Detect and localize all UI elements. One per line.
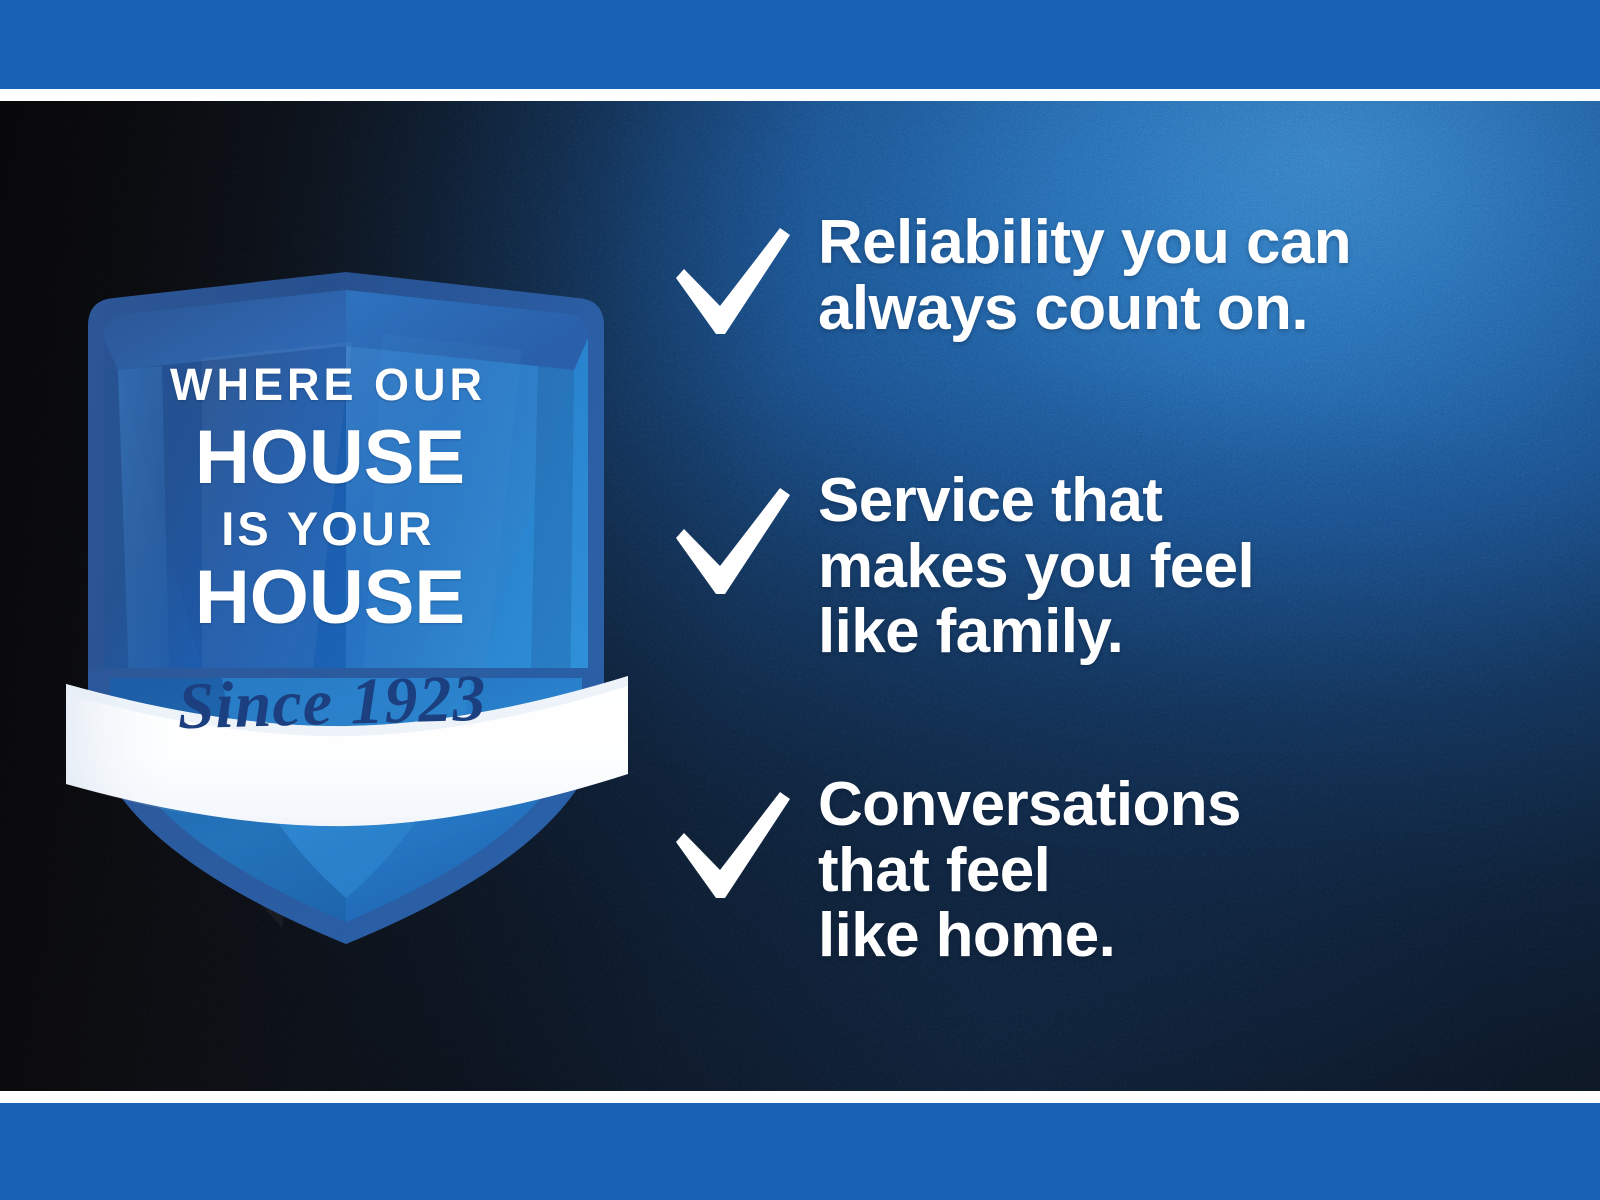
checkmark-icon — [668, 482, 796, 600]
benefit-text-conversations: Conversations that feel like home. — [818, 770, 1241, 969]
top-white-divider — [0, 89, 1600, 101]
bottom-white-divider — [0, 1091, 1600, 1103]
benefit-item-service: Service that makes you feel like family. — [668, 466, 1528, 665]
benefit-item-reliability: Reliability you can always count on. — [668, 208, 1528, 341]
top-brand-bar — [0, 0, 1600, 89]
checkmark-icon — [668, 786, 796, 904]
benefit-item-conversations: Conversations that feel like home. — [668, 770, 1528, 969]
checkmark-icon — [668, 222, 796, 340]
promo-graphic: WHERE OUR HOUSE IS YOUR HOUSE Since 1923… — [0, 0, 1600, 1200]
benefit-list: Reliability you can always count on. Ser… — [668, 188, 1528, 1028]
shield-graphic — [52, 238, 640, 968]
bottom-brand-bar — [0, 1103, 1600, 1200]
company-shield-logo: WHERE OUR HOUSE IS YOUR HOUSE Since 1923 — [52, 238, 640, 968]
benefit-text-service: Service that makes you feel like family. — [818, 466, 1254, 665]
benefit-text-reliability: Reliability you can always count on. — [818, 208, 1351, 341]
